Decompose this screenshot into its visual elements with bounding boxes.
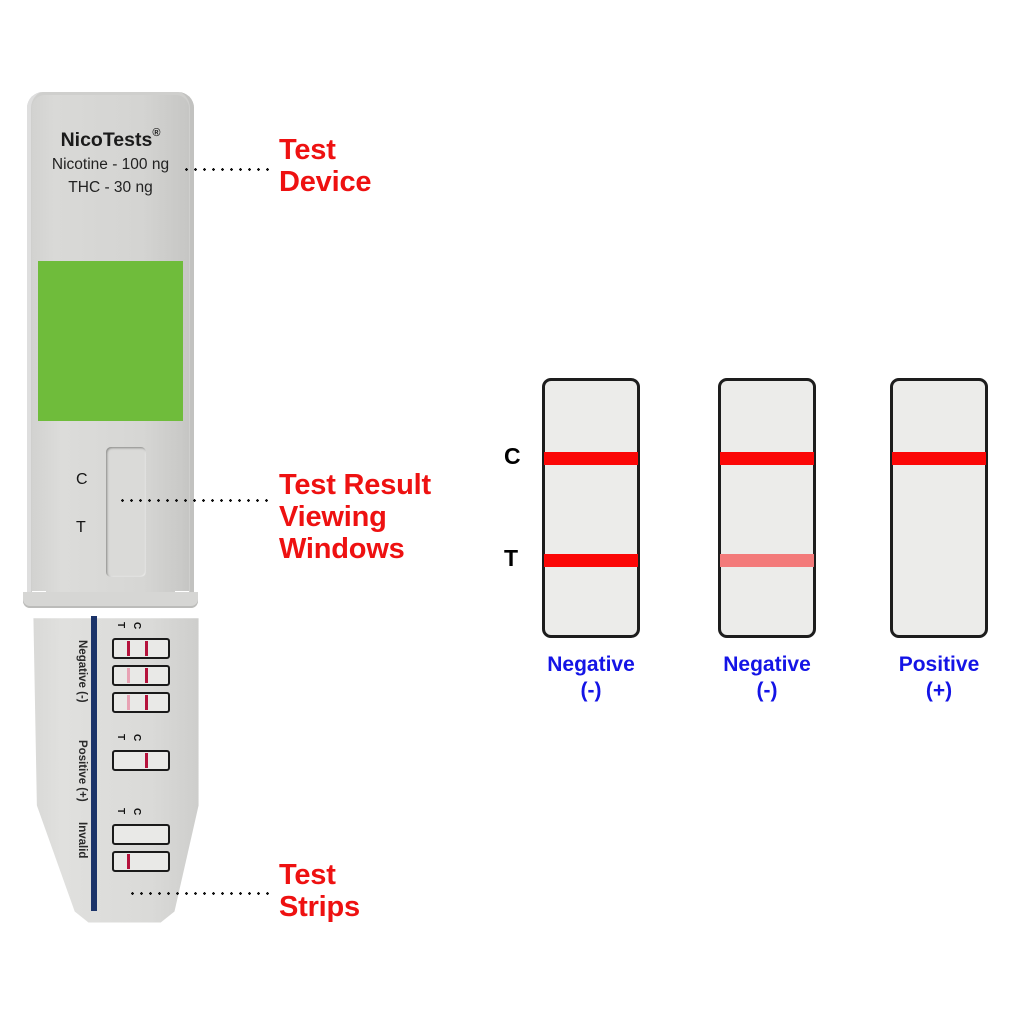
absorbent-pad-green bbox=[38, 261, 183, 421]
callout-test-strips: Test Strips bbox=[279, 859, 360, 923]
result-strip-window bbox=[542, 378, 640, 638]
result-strip-negative-1: Negative (-) bbox=[542, 378, 640, 704]
mini-line-test bbox=[127, 641, 130, 656]
result-interpretation-panel: C T Negative (-) Negative (-) Positive (… bbox=[470, 360, 1024, 720]
result-test-line bbox=[720, 554, 814, 567]
diagram-canvas: NicoTests® Nicotine - 100 ng THC - 30 ng… bbox=[0, 0, 1024, 1024]
result-viewing-window bbox=[106, 447, 146, 577]
mini-line-test bbox=[127, 854, 130, 869]
mini-strip-box bbox=[112, 824, 170, 845]
mini-line-control bbox=[145, 641, 148, 656]
result-caption: Positive (+) bbox=[890, 652, 988, 704]
mini-line-control bbox=[145, 695, 148, 710]
callout-viewing-windows: Test Result Viewing Windows bbox=[279, 469, 431, 565]
analyte-nicotine: Nicotine - 100 ng bbox=[40, 155, 181, 175]
mini-strip-box bbox=[112, 665, 170, 686]
mini-header-c-positive: C bbox=[131, 734, 142, 741]
mini-header-t-invalid: T bbox=[115, 808, 126, 814]
mini-header-c-negative: C bbox=[131, 622, 142, 629]
mini-strip-box bbox=[112, 638, 170, 659]
result-strip-positive: Positive (+) bbox=[890, 378, 988, 704]
leader-line-test-device bbox=[182, 168, 270, 171]
window-control-label: C bbox=[76, 471, 88, 489]
result-strip-negative-2: Negative (-) bbox=[718, 378, 816, 704]
result-caption: Negative (-) bbox=[718, 652, 816, 704]
strip-key-group-invalid: Invalid T C bbox=[30, 800, 202, 890]
leader-line-test-strips bbox=[128, 892, 270, 895]
strip-key-label-negative: Negative (-) bbox=[75, 640, 88, 703]
test-strips-card: Negative (-) T C Positive (+) bbox=[30, 612, 202, 924]
result-control-line bbox=[892, 452, 986, 465]
result-caption: Negative (-) bbox=[542, 652, 640, 704]
result-control-line bbox=[720, 452, 814, 465]
result-window-area: C T bbox=[38, 421, 183, 604]
analyte-thc: THC - 30 ng bbox=[40, 178, 181, 198]
results-control-axis-label: C bbox=[504, 443, 521, 470]
mini-header-t-negative: T bbox=[115, 622, 126, 628]
mini-line-control bbox=[145, 668, 148, 683]
result-control-line bbox=[544, 452, 638, 465]
device-label-panel: NicoTests® Nicotine - 100 ng THC - 30 ng bbox=[40, 101, 181, 246]
strip-key-label-positive: Positive (+) bbox=[75, 740, 88, 802]
window-test-label: T bbox=[76, 519, 86, 537]
strip-key-group-negative: Negative (-) T C bbox=[30, 612, 202, 722]
strip-key-label-invalid: Invalid bbox=[75, 822, 88, 858]
mini-strip-box bbox=[112, 851, 170, 872]
brand-name: NicoTests® bbox=[61, 129, 161, 152]
result-strip-window bbox=[718, 378, 816, 638]
mini-line-control bbox=[145, 753, 148, 768]
mini-strip-box bbox=[112, 750, 170, 771]
cassette-surface: NicoTests® Nicotine - 100 ng THC - 30 ng… bbox=[32, 95, 189, 604]
test-device-illustration: NicoTests® Nicotine - 100 ng THC - 30 ng… bbox=[0, 0, 260, 1024]
mini-strip-box bbox=[112, 692, 170, 713]
results-test-axis-label: T bbox=[504, 545, 518, 572]
cassette-body: NicoTests® Nicotine - 100 ng THC - 30 ng… bbox=[27, 92, 194, 604]
mini-line-test bbox=[127, 695, 130, 710]
callout-test-device: Test Device bbox=[279, 134, 371, 198]
mini-header-t-positive: T bbox=[115, 734, 126, 740]
mini-line-test bbox=[127, 668, 130, 683]
leader-line-viewing-windows bbox=[118, 499, 270, 502]
strip-key-group-positive: Positive (+) T C bbox=[30, 724, 202, 794]
registered-trademark-icon: ® bbox=[152, 127, 160, 139]
mini-header-c-invalid: C bbox=[131, 808, 142, 815]
brand-text: NicoTests bbox=[61, 129, 153, 151]
cassette-base-edge bbox=[23, 592, 198, 608]
result-test-line bbox=[544, 554, 638, 567]
result-strip-window bbox=[890, 378, 988, 638]
